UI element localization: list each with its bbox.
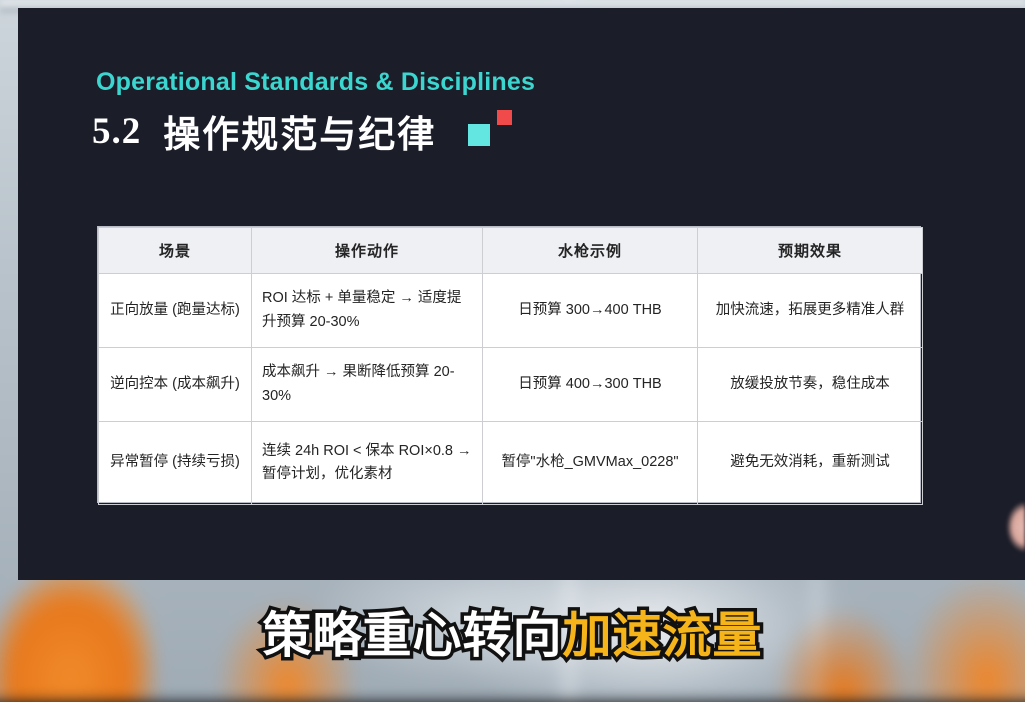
cell-effect: 避免无效消耗，重新测试 (698, 422, 923, 505)
column-header-effect: 预期效果 (698, 228, 923, 274)
cell-example: 日预算 300→400 THB (483, 274, 698, 348)
column-header-scenario: 场景 (99, 228, 252, 274)
cell-action: ROI 达标 + 单量稳定 → 适度提升预算 20-30% (252, 274, 483, 348)
table-row: 异常暂停 (持续亏损) 连续 24h ROI < 保本 ROI×0.8 → 暂停… (99, 422, 923, 505)
cell-example: 日预算 400→300 THB (483, 348, 698, 422)
decorative-squares (468, 110, 512, 146)
slide-section-number: 5.2 (92, 110, 141, 153)
red-square-icon (497, 110, 512, 125)
teal-square-icon (468, 124, 490, 146)
video-caption-subtitle: 策略重心转向加速流量 (0, 596, 1025, 667)
slide-title-row: 5.2 操作规范与纪律 (92, 104, 436, 158)
table-header-row: 场景 操作动作 水枪示例 预期效果 (99, 228, 923, 274)
caption-text-highlight: 加速流量 (563, 609, 763, 663)
cell-scenario: 逆向控本 (成本飙升) (99, 348, 252, 422)
cell-example: 暂停"水枪_GMVMax_0228" (483, 422, 698, 505)
table-row: 正向放量 (跑量达标) ROI 达标 + 单量稳定 → 适度提升预算 20-30… (99, 274, 923, 348)
slide-eyebrow-heading: Operational Standards & Disciplines (96, 68, 535, 97)
cell-action: 连续 24h ROI < 保本 ROI×0.8 → 暂停计划，优化素材 (252, 422, 483, 505)
column-header-example: 水枪示例 (483, 228, 698, 274)
cell-effect: 加快流速，拓展更多精准人群 (698, 274, 923, 348)
cell-scenario: 异常暂停 (持续亏损) (99, 422, 252, 505)
caption-text-primary: 策略重心转向 (262, 609, 562, 663)
cell-effect: 放缓投放节奏，稳住成本 (698, 348, 923, 422)
cell-scenario: 正向放量 (跑量达标) (99, 274, 252, 348)
operations-table: 场景 操作动作 水枪示例 预期效果 正向放量 (跑量达标) ROI 达标 + 单… (97, 226, 921, 503)
table-row: 逆向控本 (成本飙升) 成本飙升 → 果断降低预算 20-30% 日预算 400… (99, 348, 923, 422)
column-header-action: 操作动作 (252, 228, 483, 274)
cell-action: 成本飙升 → 果断降低预算 20-30% (252, 348, 483, 422)
presenter-video-edge (999, 498, 1025, 556)
page-title: 操作规范与纪律 (163, 104, 436, 158)
